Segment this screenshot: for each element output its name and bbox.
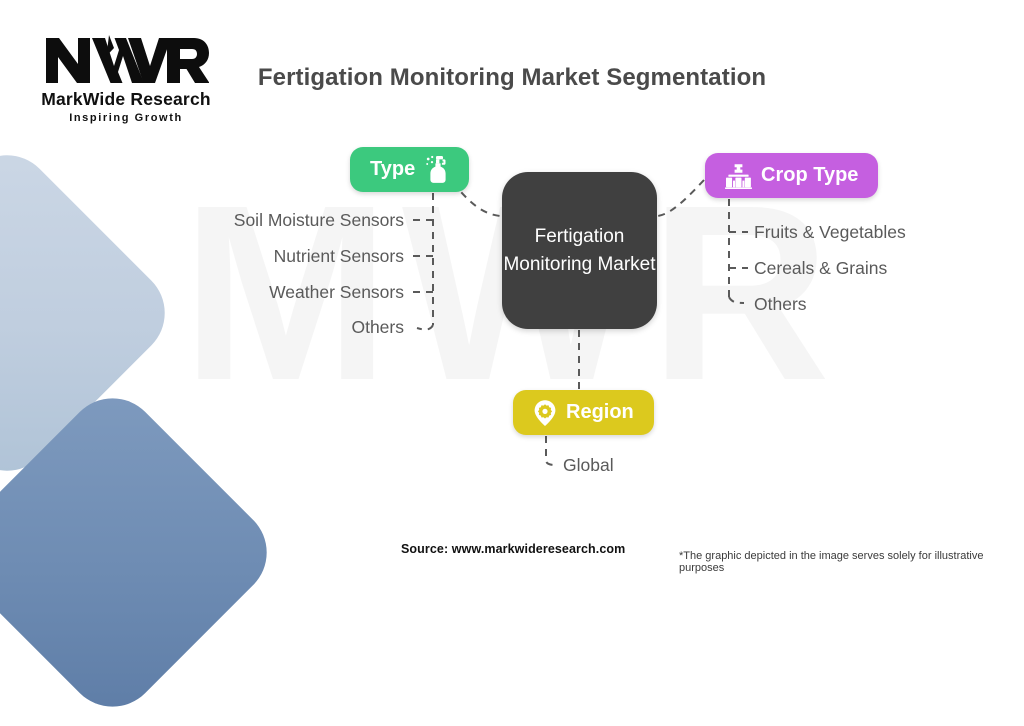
- leaf-type-1[interactable]: Nutrient Sensors: [104, 246, 404, 267]
- infographic-canvas: MWR MarkWide Research Inspiring Growth F…: [0, 0, 1024, 576]
- leaf-crop-type-2[interactable]: Others: [754, 294, 807, 315]
- branch-pill-type-label: Type: [370, 158, 415, 181]
- branch-pill-crop-type[interactable]: Crop Type: [705, 153, 878, 198]
- leaf-type-0[interactable]: Soil Moisture Sensors: [104, 210, 404, 231]
- leaf-crop-type-0[interactable]: Fruits & Vegetables: [754, 222, 906, 243]
- center-node-label: Fertigation Monitoring Market: [502, 223, 657, 278]
- center-node[interactable]: Fertigation Monitoring Market: [502, 172, 657, 329]
- branch-pill-crop-type-label: Crop Type: [761, 164, 858, 187]
- leaf-crop-type-1[interactable]: Cereals & Grains: [754, 258, 887, 279]
- branch-pill-type[interactable]: Type: [350, 147, 469, 192]
- leaf-type-2[interactable]: Weather Sensors: [104, 282, 404, 303]
- disclaimer-text: *The graphic depicted in the image serve…: [679, 550, 1024, 574]
- leaf-type-3[interactable]: Others: [104, 317, 404, 338]
- branch-pill-region-label: Region: [566, 401, 634, 424]
- map-pin-icon: [533, 399, 557, 427]
- branch-pill-region[interactable]: Region: [513, 390, 654, 435]
- leaf-region-0[interactable]: Global: [563, 455, 614, 476]
- crops-icon: [725, 163, 752, 189]
- source-text: Source: www.markwideresearch.com: [401, 542, 625, 556]
- sprayer-icon: [424, 155, 449, 184]
